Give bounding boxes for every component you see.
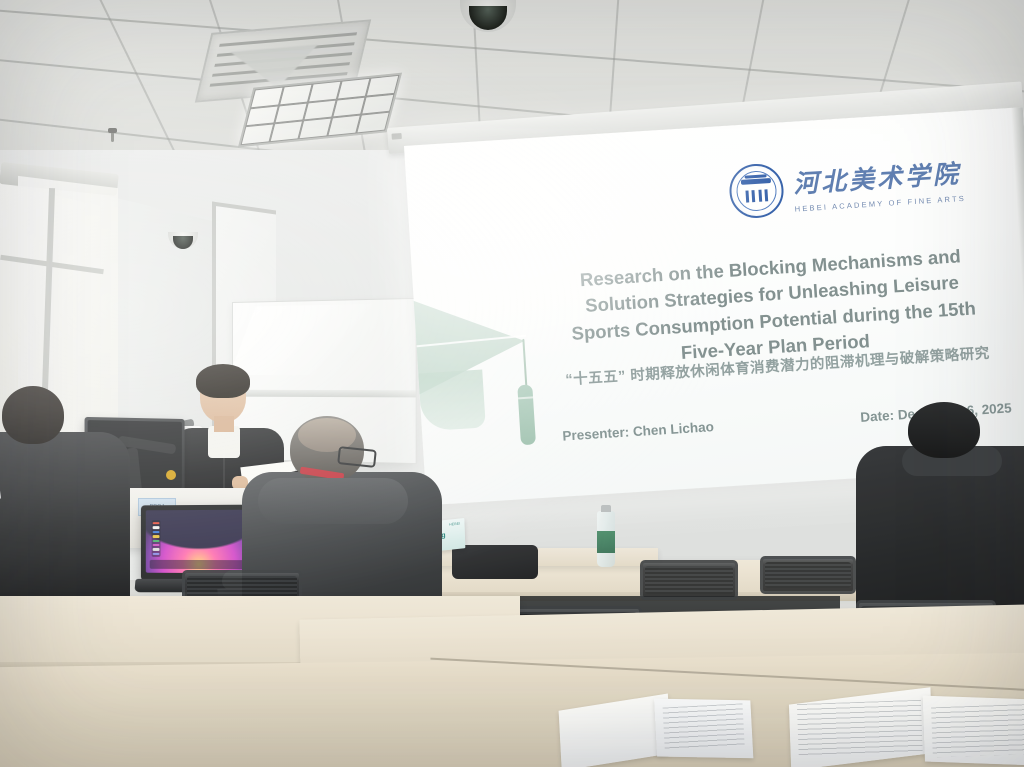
open-reference-book [789, 690, 1024, 767]
university-seal-icon [728, 162, 785, 219]
university-logo: 河北美术学院 HEBEI ACADEMY OF FINE ARTS [728, 151, 966, 220]
university-name-cn: 河北美术学院 [792, 153, 965, 200]
slide-presenter: Presenter: Chen Lichao [562, 419, 714, 443]
attendee-right [884, 402, 1024, 622]
chair[interactable] [640, 560, 738, 600]
laptop-screen[interactable] [146, 510, 253, 574]
attendee-left [0, 386, 122, 616]
monitor-arm-knob [166, 470, 176, 480]
classroom-photo-scene: 河北美术学院 HEBEI ACADEMY OF FINE ARTS Resear… [0, 0, 1024, 767]
fire-sprinkler-icon [108, 128, 117, 142]
water-bottle [597, 505, 615, 567]
open-booklet [558, 695, 751, 767]
eyeglasses-icon [337, 446, 377, 468]
black-bag [452, 545, 538, 579]
name-card-org: HEBEI [449, 521, 461, 526]
laptop-dock[interactable] [152, 520, 161, 557]
laptop-taskbar[interactable] [150, 560, 249, 569]
chair[interactable] [760, 556, 856, 594]
hoodie-hood [258, 478, 408, 524]
